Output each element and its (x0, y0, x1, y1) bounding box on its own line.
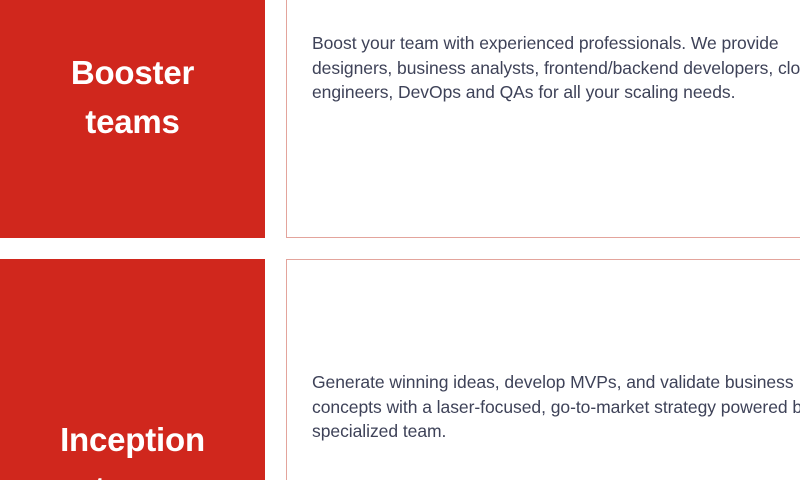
service-label-tile-inception-team[interactable]: Inception team (0, 259, 265, 480)
service-row-booster-teams: Booster teams Boost your team with exper… (0, 0, 800, 238)
service-label-tile-booster-teams[interactable]: Booster teams (0, 0, 265, 238)
service-description-booster-teams: Boost your team with experienced profess… (312, 31, 800, 105)
service-title-booster-teams: Booster teams (71, 49, 194, 147)
service-description-inception-team: Generate winning ideas, develop MVPs, an… (312, 370, 800, 444)
service-description-card-inception-team: Generate winning ideas, develop MVPs, an… (286, 259, 800, 480)
service-row-inception-team: Inception team Generate winning ideas, d… (0, 259, 800, 480)
service-description-card-booster-teams: Boost your team with experienced profess… (286, 0, 800, 238)
service-title-inception-team: Inception team (60, 416, 205, 480)
services-board: Booster teams Boost your team with exper… (0, 0, 800, 480)
